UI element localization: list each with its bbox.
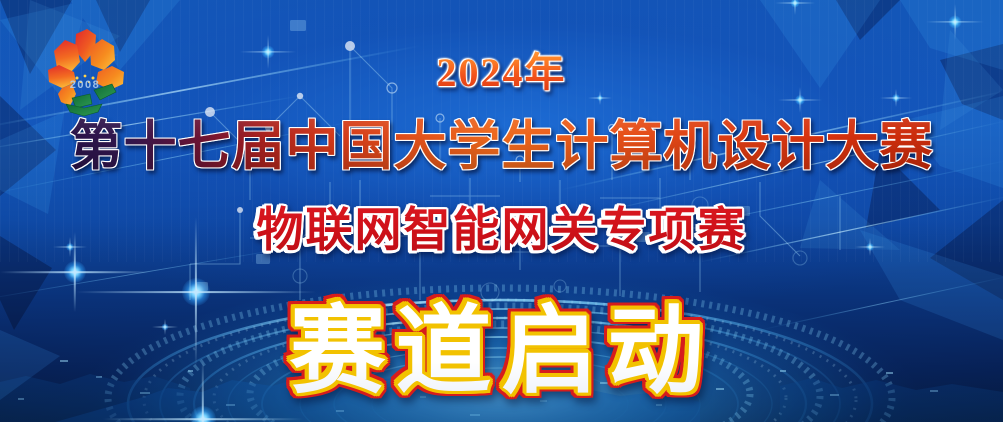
- title-hero-line: 赛道启动: [0, 273, 1003, 412]
- title-main-text: 第十七届中国大学生计算机设计大赛: [70, 104, 934, 180]
- title-subtitle-line: 物联网智能网关专项赛: [0, 191, 1003, 260]
- competition-banner: 2008 2024年 第十七届中国大学生计算机设计大赛 物联网智能网关专项赛 赛…: [0, 0, 1003, 422]
- title-hero-text: 赛道启动: [290, 273, 714, 412]
- title-block: 2024年 第十七届中国大学生计算机设计大赛 物联网智能网关专项赛 赛道启动: [0, 0, 1003, 422]
- title-subtitle-text: 物联网智能网关专项赛: [257, 191, 747, 260]
- title-main-line: 第十七届中国大学生计算机设计大赛: [0, 104, 1003, 180]
- title-year-text: 2024年: [437, 40, 567, 98]
- title-year-line: 2024年: [0, 40, 1003, 98]
